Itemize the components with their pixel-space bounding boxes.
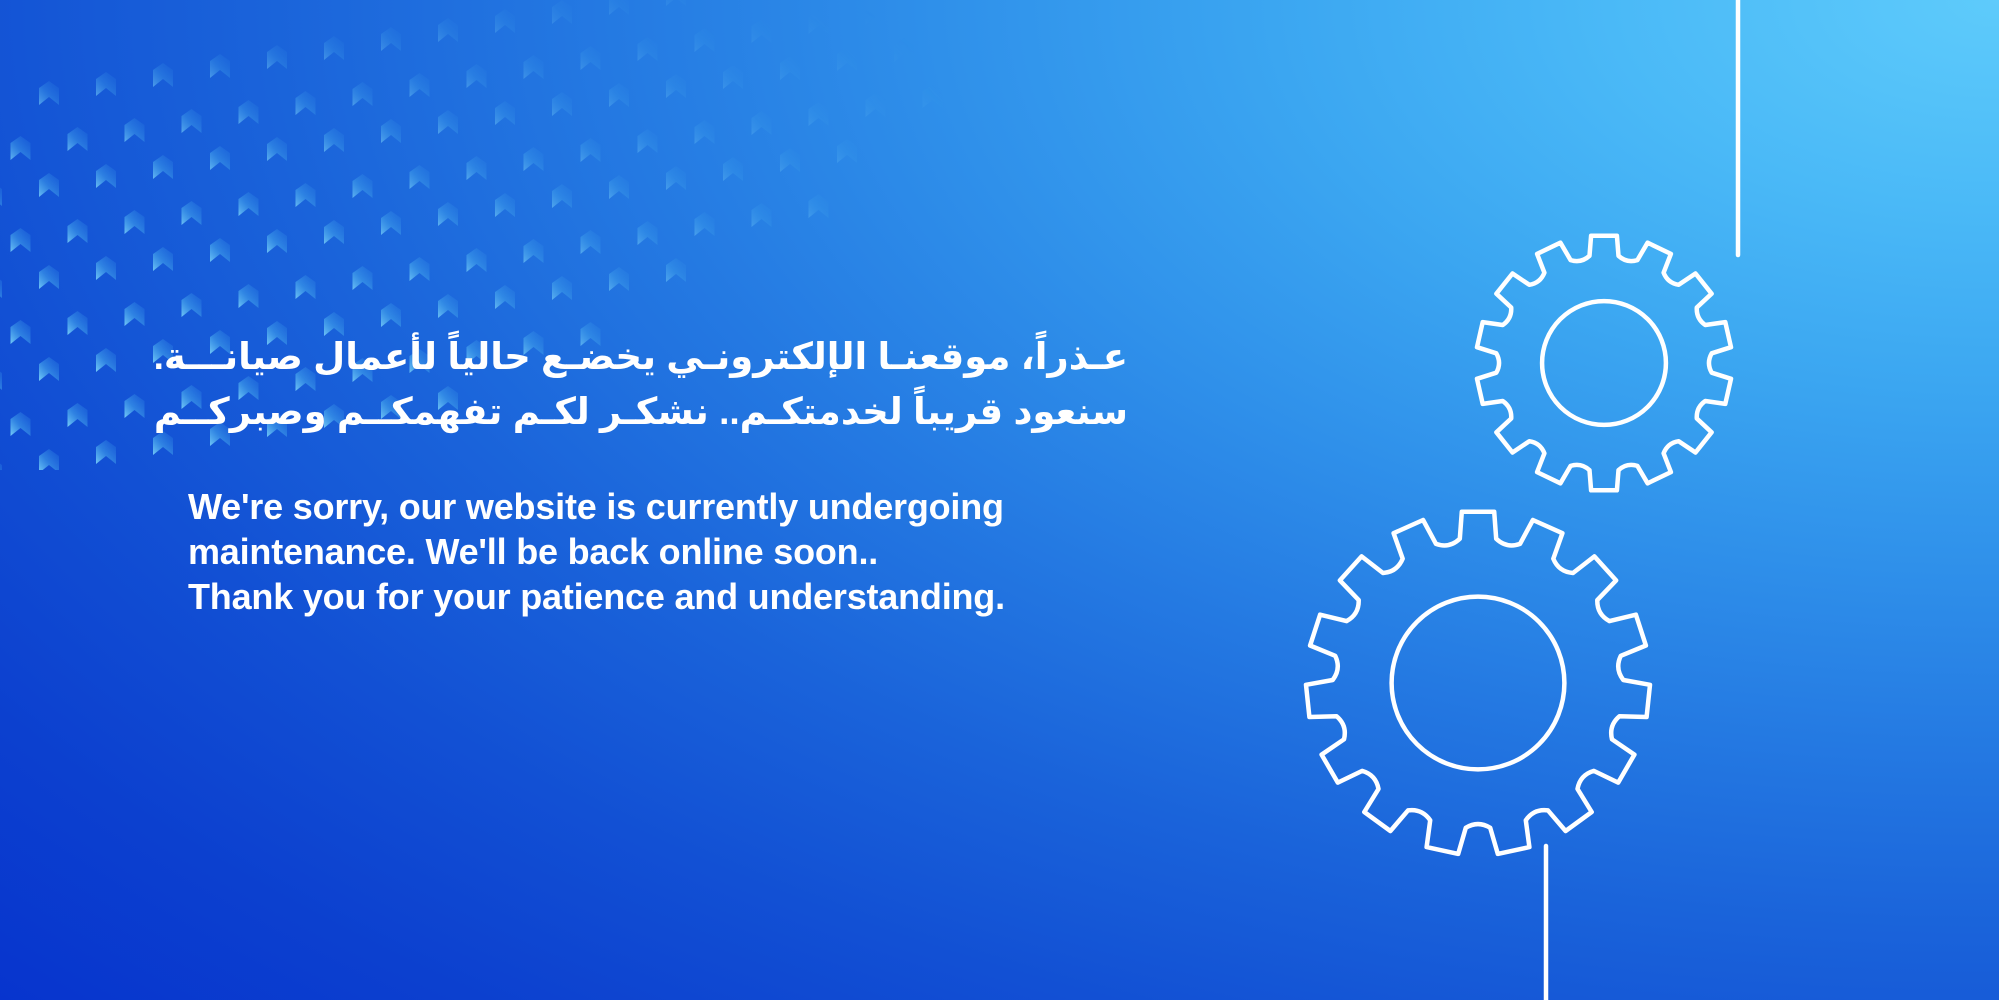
arabic-line-2: سنعود قريباً لخدمتكـم.. نشكـر لكـم تفهمك… [188, 385, 1128, 440]
gear-upper-outline [1477, 236, 1731, 491]
english-line-3: Thank you for your patience and understa… [188, 574, 1188, 619]
gear-lower-outline [1306, 512, 1650, 854]
gear-lower-hub [1392, 597, 1565, 770]
arabic-line-1: عـذراً، موقعنـا الإلكترونـي يخضـع حالياً… [188, 330, 1128, 385]
maintenance-message: عـذراً، موقعنـا الإلكترونـي يخضـع حالياً… [188, 330, 1188, 620]
gear-upper-hub [1542, 301, 1666, 425]
arabic-message: عـذراً، موقعنـا الإلكترونـي يخضـع حالياً… [188, 330, 1128, 440]
english-message: We're sorry, our website is currently un… [188, 484, 1188, 620]
english-line-1: We're sorry, our website is currently un… [188, 484, 1188, 529]
english-line-2: maintenance. We'll be back online soon.. [188, 529, 1188, 574]
gears-illustration [1139, 0, 1999, 1000]
maintenance-page: عـذراً، موقعنـا الإلكترونـي يخضـع حالياً… [0, 0, 1999, 1000]
